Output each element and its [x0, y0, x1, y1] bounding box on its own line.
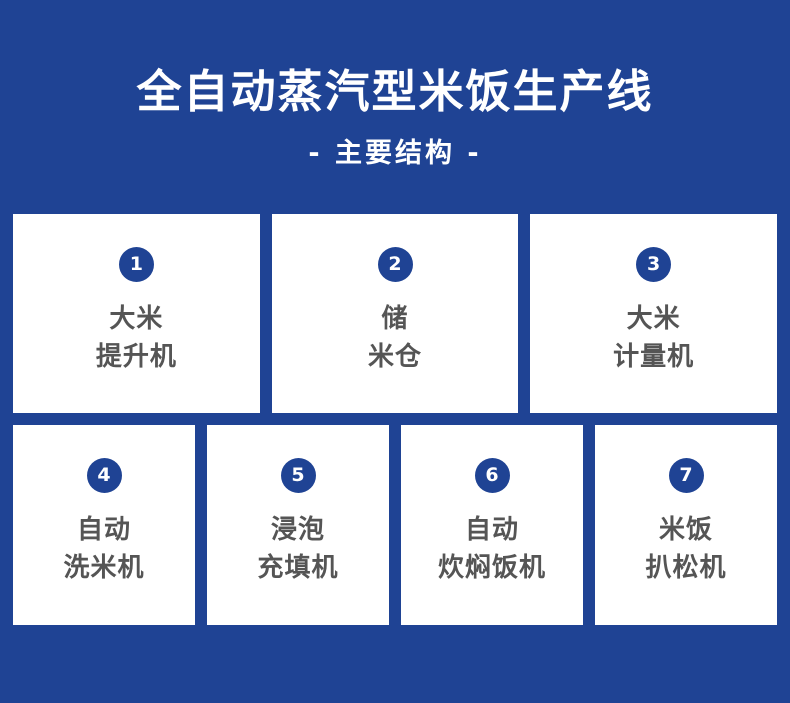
label-line-2: 提升机 — [96, 339, 177, 377]
label-line-1: 储 — [368, 301, 422, 339]
label-line-2: 计量机 — [613, 339, 694, 377]
structure-card-label: 自动 炊焖饭机 — [438, 512, 546, 587]
label-line-1: 浸泡 — [257, 512, 338, 550]
structure-card-label: 储 米仓 — [368, 301, 422, 376]
structure-card-grid: 1 大米 提升机 2 储 米仓 3 大米 计量机 — [13, 214, 777, 625]
structure-card-1[interactable]: 1 大米 提升机 — [13, 214, 260, 413]
poster-header: 全自动蒸汽型米饭生产线 - 主要结构 - — [0, 0, 790, 170]
label-line-1: 大米 — [613, 301, 694, 339]
structure-card-2[interactable]: 2 储 米仓 — [272, 214, 519, 413]
structure-card-6[interactable]: 6 自动 炊焖饭机 — [401, 425, 583, 625]
label-line-2: 充填机 — [257, 550, 338, 588]
structure-card-4[interactable]: 4 自动 洗米机 — [13, 425, 195, 625]
step-number-badge: 1 — [119, 247, 154, 282]
structure-card-label: 大米 提升机 — [96, 301, 177, 376]
label-line-1: 自动 — [438, 512, 546, 550]
label-line-2: 洗米机 — [63, 550, 144, 588]
structure-card-label: 米饭 扒松机 — [645, 512, 726, 587]
structure-card-label: 大米 计量机 — [613, 301, 694, 376]
label-line-1: 米饭 — [645, 512, 726, 550]
card-row-bottom: 4 自动 洗米机 5 浸泡 充填机 6 自动 炊焖饭机 — [13, 425, 777, 625]
structure-card-5[interactable]: 5 浸泡 充填机 — [207, 425, 389, 625]
structure-card-label: 浸泡 充填机 — [257, 512, 338, 587]
label-line-2: 米仓 — [368, 339, 422, 377]
label-line-1: 自动 — [63, 512, 144, 550]
structure-card-3[interactable]: 3 大米 计量机 — [530, 214, 777, 413]
step-number-badge: 7 — [669, 458, 704, 493]
label-line-2: 扒松机 — [645, 550, 726, 588]
step-number-badge: 2 — [378, 247, 413, 282]
page-subtitle: - 主要结构 - — [0, 138, 790, 170]
structure-card-7[interactable]: 7 米饭 扒松机 — [595, 425, 777, 625]
card-row-top: 1 大米 提升机 2 储 米仓 3 大米 计量机 — [13, 214, 777, 413]
step-number-badge: 5 — [281, 458, 316, 493]
label-line-2: 炊焖饭机 — [438, 550, 546, 588]
structure-card-label: 自动 洗米机 — [63, 512, 144, 587]
label-line-1: 大米 — [96, 301, 177, 339]
page-title: 全自动蒸汽型米饭生产线 — [0, 66, 790, 118]
step-number-badge: 6 — [475, 458, 510, 493]
step-number-badge: 3 — [636, 247, 671, 282]
poster-root: 全自动蒸汽型米饭生产线 - 主要结构 - 1 大米 提升机 2 储 米仓 3 — [0, 0, 790, 703]
step-number-badge: 4 — [87, 458, 122, 493]
